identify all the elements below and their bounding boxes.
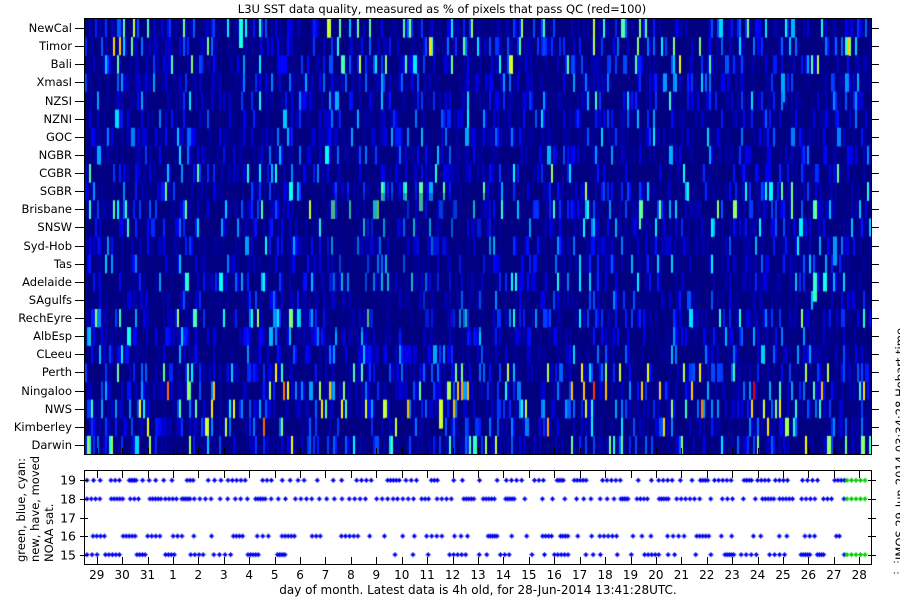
satellite-x-tick <box>707 557 708 564</box>
heatmap-x-tick <box>402 448 403 455</box>
satellite-x-tick <box>605 557 606 564</box>
satellite-x-tick-top <box>580 471 581 478</box>
region-label-recheyre: RechEyre <box>18 311 72 325</box>
heatmap-canvas <box>85 19 871 454</box>
heatmap-x-tick <box>122 448 123 455</box>
satellite-x-tick <box>376 557 377 564</box>
y-tick <box>75 246 84 247</box>
heatmap-x-tick <box>275 448 276 455</box>
x-axis-label: day of month. Latest data is 4h old, for… <box>84 583 872 597</box>
y-tick <box>75 46 84 47</box>
satellite-x-tick <box>758 557 759 564</box>
region-label-perth: Perth <box>42 365 72 379</box>
x-tick-label-4: 4 <box>245 568 253 582</box>
heatmap-x-tick <box>631 448 632 455</box>
satellite-x-tick <box>300 557 301 564</box>
satellite-x-tick-top <box>631 471 632 478</box>
satellite-x-tick-top <box>224 471 225 478</box>
y-tick-right <box>872 282 879 283</box>
dotted-separator-icon: ⋮⋮ <box>893 556 900 578</box>
satellite-x-tick-top <box>148 471 149 478</box>
x-tick-label-31: 31 <box>140 568 155 582</box>
heatmap-x-tick <box>427 448 428 455</box>
satellite-y-axis-label-line2: new, have, moved <box>28 456 42 562</box>
region-label-brisbane: Brisbane <box>21 202 72 216</box>
satellite-x-tick-top <box>300 471 301 478</box>
y-tick <box>75 336 84 337</box>
heatmap-x-tick <box>249 448 250 455</box>
y-tick <box>75 227 84 228</box>
region-label-newcal: NewCal <box>29 21 72 35</box>
page-title: L3U SST data quality, measured as % of p… <box>0 2 884 16</box>
y-tick-right <box>872 409 879 410</box>
satellite-x-tick <box>224 557 225 564</box>
region-label-cleeu: CLeeu <box>36 347 72 361</box>
satellite-x-tick <box>275 557 276 564</box>
x-tick-label-9: 9 <box>372 568 380 582</box>
satellite-x-tick-top <box>808 471 809 478</box>
x-tick-label-19: 19 <box>623 568 638 582</box>
y-tick <box>75 82 84 83</box>
heatmap-panel <box>84 18 872 455</box>
region-label-kimberley: Kimberley <box>14 420 72 434</box>
y-tick <box>75 209 84 210</box>
satellite-x-tick <box>554 557 555 564</box>
y-tick-right <box>872 209 879 210</box>
satellite-x-tick <box>834 557 835 564</box>
x-tick-label-23: 23 <box>725 568 740 582</box>
region-label-tas: Tas <box>54 257 72 271</box>
sst-quality-figure: L3U SST data quality, measured as % of p… <box>0 0 900 600</box>
heatmap-x-tick <box>300 448 301 455</box>
satellite-x-tick <box>681 557 682 564</box>
y-tick-right <box>872 300 879 301</box>
satellite-x-tick-top <box>453 471 454 478</box>
satellite-y-axis-label-line3: NOAA sat. <box>42 504 56 562</box>
satellite-x-tick <box>122 557 123 564</box>
heatmap-x-tick <box>478 448 479 455</box>
x-tick-label-24: 24 <box>750 568 765 582</box>
satellite-x-tick-top <box>122 471 123 478</box>
satellite-x-tick-top <box>834 471 835 478</box>
heatmap-x-tick <box>681 448 682 455</box>
region-label-sagulfs: SAgulfs <box>29 293 72 307</box>
y-tick-right <box>872 155 879 156</box>
heatmap-x-tick <box>148 448 149 455</box>
heatmap-x-tick <box>580 448 581 455</box>
satellite-x-tick-top <box>605 471 606 478</box>
satellite-y-tick <box>80 480 88 481</box>
x-tick-label-30: 30 <box>114 568 129 582</box>
x-tick-label-5: 5 <box>271 568 279 582</box>
y-tick <box>75 409 84 410</box>
region-label-timor: Timor <box>39 39 72 53</box>
x-tick-label-25: 25 <box>775 568 790 582</box>
y-tick <box>75 28 84 29</box>
satellite-x-tick-top <box>681 471 682 478</box>
x-tick-label-26: 26 <box>801 568 816 582</box>
x-tick-label-21: 21 <box>674 568 689 582</box>
satellite-x-tick-top <box>656 471 657 478</box>
satellite-canvas <box>85 471 871 564</box>
x-tick-label-17: 17 <box>572 568 587 582</box>
satellite-x-tick <box>402 557 403 564</box>
satellite-x-tick-top <box>732 471 733 478</box>
y-tick-right <box>872 64 879 65</box>
x-tick-label-1: 1 <box>169 568 177 582</box>
region-label-syd-hob: Syd-Hob <box>23 239 72 253</box>
heatmap-x-tick <box>758 448 759 455</box>
satellite-x-tick <box>783 557 784 564</box>
satellite-x-tick <box>249 557 250 564</box>
region-label-ningaloo: Ningaloo <box>21 384 72 398</box>
satellite-x-tick-top <box>859 471 860 478</box>
satellite-y-tick <box>80 536 88 537</box>
region-label-adelaide: Adelaide <box>22 275 72 289</box>
x-tick-label-10: 10 <box>394 568 409 582</box>
satellite-y-tick <box>80 555 88 556</box>
y-tick <box>75 282 84 283</box>
x-tick-label-15: 15 <box>521 568 536 582</box>
y-tick <box>75 318 84 319</box>
x-tick-label-14: 14 <box>496 568 511 582</box>
x-tick-label-12: 12 <box>445 568 460 582</box>
heatmap-x-tick <box>707 448 708 455</box>
y-tick <box>75 445 84 446</box>
satellite-y-axis-label-line1: green, blue, cyan: <box>14 458 28 562</box>
satellite-x-tick-top <box>503 471 504 478</box>
satellite-y-tick-right <box>868 499 876 500</box>
satellite-x-tick-top <box>402 471 403 478</box>
heatmap-x-tick <box>732 448 733 455</box>
y-tick-right <box>872 336 879 337</box>
satellite-x-tick <box>631 557 632 564</box>
y-tick <box>75 155 84 156</box>
satellite-x-tick <box>453 557 454 564</box>
heatmap-x-tick <box>859 448 860 455</box>
region-label-nzni: NZNI <box>44 112 72 126</box>
satellite-x-tick-top <box>97 471 98 478</box>
y-tick <box>75 119 84 120</box>
y-tick-right <box>872 137 879 138</box>
region-label-albesp: AlbEsp <box>33 329 72 343</box>
y-tick <box>75 173 84 174</box>
satellite-x-tick <box>808 557 809 564</box>
y-tick-right <box>872 173 879 174</box>
y-tick-right <box>872 354 879 355</box>
satellite-y-tick-right <box>868 480 876 481</box>
y-tick <box>75 300 84 301</box>
x-tick-label-18: 18 <box>597 568 612 582</box>
y-tick <box>75 391 84 392</box>
satellite-x-tick <box>656 557 657 564</box>
region-label-bali: Bali <box>51 57 72 71</box>
satellite-x-tick <box>351 557 352 564</box>
heatmap-x-tick <box>529 448 530 455</box>
region-label-xmasi: XmasI <box>36 75 72 89</box>
heatmap-x-tick <box>198 448 199 455</box>
satellite-y-tick <box>80 499 88 500</box>
heatmap-x-tick <box>453 448 454 455</box>
heatmap-x-tick <box>97 448 98 455</box>
satellite-x-tick <box>173 557 174 564</box>
x-tick-label-13: 13 <box>470 568 485 582</box>
heatmap-x-tick <box>554 448 555 455</box>
region-label-snsw: SNSW <box>37 220 72 234</box>
satellite-x-tick <box>427 557 428 564</box>
heatmap-x-tick <box>325 448 326 455</box>
satellite-x-tick-top <box>529 471 530 478</box>
heatmap-x-tick <box>224 448 225 455</box>
satellite-x-tick <box>325 557 326 564</box>
satellite-x-tick <box>732 557 733 564</box>
heatmap-x-tick <box>808 448 809 455</box>
x-tick-label-2: 2 <box>195 568 203 582</box>
heatmap-x-tick <box>656 448 657 455</box>
heatmap-x-tick <box>783 448 784 455</box>
y-tick-right <box>872 246 879 247</box>
imos-timestamp-label: IMOS 29-Jun-2014 03:34:28 Hobart time <box>893 328 900 560</box>
region-label-nzsi: NZSI <box>45 94 72 108</box>
satellite-x-tick <box>580 557 581 564</box>
satellite-y-tick-right <box>868 518 876 519</box>
satellite-x-tick <box>478 557 479 564</box>
satellite-y-tick-right <box>868 555 876 556</box>
y-tick <box>75 427 84 428</box>
satellite-x-tick <box>148 557 149 564</box>
y-tick-right <box>872 227 879 228</box>
x-tick-label-11: 11 <box>420 568 435 582</box>
x-tick-label-22: 22 <box>699 568 714 582</box>
y-tick <box>75 372 84 373</box>
y-tick-right <box>872 318 879 319</box>
y-tick <box>75 264 84 265</box>
x-tick-label-6: 6 <box>296 568 304 582</box>
y-tick-right <box>872 264 879 265</box>
satellite-x-tick-top <box>351 471 352 478</box>
region-label-goc: GOC <box>46 130 72 144</box>
x-tick-label-3: 3 <box>220 568 228 582</box>
y-tick-right <box>872 391 879 392</box>
satellite-x-tick <box>503 557 504 564</box>
region-label-darwin: Darwin <box>31 438 72 452</box>
y-tick <box>75 101 84 102</box>
y-tick-right <box>872 445 879 446</box>
y-tick-right <box>872 46 879 47</box>
x-tick-label-27: 27 <box>826 568 841 582</box>
heatmap-x-tick <box>605 448 606 455</box>
x-tick-label-16: 16 <box>547 568 562 582</box>
y-tick <box>75 137 84 138</box>
x-tick-label-28: 28 <box>852 568 867 582</box>
y-tick-right <box>872 101 879 102</box>
x-tick-label-8: 8 <box>347 568 355 582</box>
x-tick-label-20: 20 <box>648 568 663 582</box>
satellite-x-tick-top <box>198 471 199 478</box>
satellite-x-tick-top <box>758 471 759 478</box>
satellite-x-tick <box>529 557 530 564</box>
region-label-cgbr: CGBR <box>39 166 72 180</box>
y-tick <box>75 354 84 355</box>
y-tick-right <box>872 427 879 428</box>
satellite-y-tick <box>80 518 88 519</box>
satellite-x-tick-top <box>554 471 555 478</box>
heatmap-x-tick <box>173 448 174 455</box>
satellite-x-tick <box>859 557 860 564</box>
y-tick-right <box>872 372 879 373</box>
heatmap-x-tick <box>834 448 835 455</box>
satellite-x-tick-top <box>427 471 428 478</box>
x-tick-label-29: 29 <box>89 568 104 582</box>
satellite-x-tick-top <box>707 471 708 478</box>
heatmap-x-tick <box>351 448 352 455</box>
satellite-x-tick <box>97 557 98 564</box>
x-tick-label-7: 7 <box>322 568 330 582</box>
satellite-x-tick <box>198 557 199 564</box>
satellite-x-tick-top <box>275 471 276 478</box>
heatmap-x-tick <box>503 448 504 455</box>
region-label-ngbr: NGBR <box>39 148 72 162</box>
region-label-sgbr: SGBR <box>40 184 72 198</box>
y-tick-right <box>872 191 879 192</box>
y-tick-right <box>872 119 879 120</box>
satellite-y-tick-right <box>868 536 876 537</box>
satellite-x-tick-top <box>325 471 326 478</box>
satellite-x-tick-top <box>173 471 174 478</box>
y-tick <box>75 191 84 192</box>
y-tick-right <box>872 28 879 29</box>
satellite-x-tick-top <box>478 471 479 478</box>
heatmap-x-tick <box>376 448 377 455</box>
satellite-x-tick-top <box>376 471 377 478</box>
satellite-x-tick-top <box>249 471 250 478</box>
y-tick <box>75 64 84 65</box>
satellite-panel <box>84 470 872 565</box>
region-label-nws: NWS <box>45 402 72 416</box>
y-tick-right <box>872 82 879 83</box>
satellite-x-tick-top <box>783 471 784 478</box>
